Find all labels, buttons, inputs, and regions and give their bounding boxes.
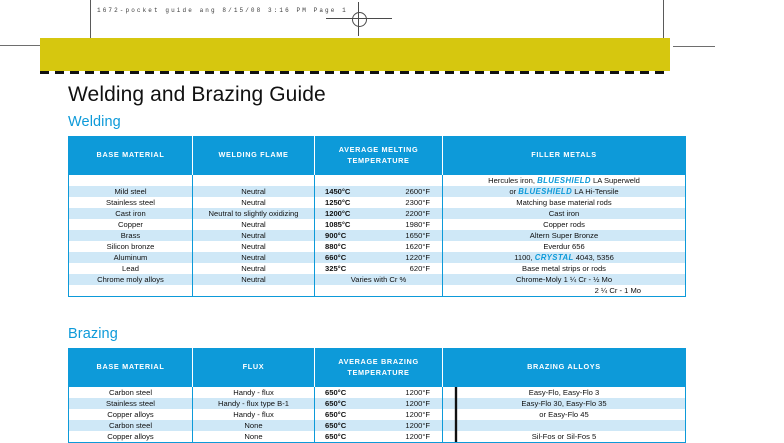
registration-target-icon bbox=[348, 8, 370, 30]
welding-base-material-cell: Brass bbox=[69, 230, 193, 241]
temperature-celsius: 650°C bbox=[325, 409, 346, 420]
temperature-celsius: 660°C bbox=[325, 252, 346, 263]
temperature-cell: Varies with Cr % bbox=[315, 274, 443, 285]
welding-table-row: BrassNeutral900°C1650°FAltern Super Bron… bbox=[69, 230, 686, 241]
welding-filler-metals-cell: Copper rods bbox=[443, 219, 686, 230]
welding-flame-cell: Neutral bbox=[193, 230, 315, 241]
welding-base-material-cell: Chrome moly alloys bbox=[69, 274, 193, 285]
welding-flame-cell: Neutral bbox=[193, 252, 315, 263]
welding-filler-metals-cell: Base metal strips or rods bbox=[443, 263, 686, 274]
brazing-table-row: Carbon steelNone650°C1200°F⎧ bbox=[69, 420, 686, 431]
welding-heading: Welding bbox=[68, 114, 685, 130]
welding-base-material-cell bbox=[69, 285, 193, 297]
brazing-table-body: Carbon steelHandy - flux650°C1200°F⎧Easy… bbox=[69, 387, 686, 443]
welding-col-welding-flame: WELDING FLAME bbox=[193, 137, 315, 176]
temperature-span-note: Varies with Cr % bbox=[315, 274, 442, 285]
welding-flame-cell: Neutral bbox=[193, 241, 315, 252]
temperature-cell: 650°C1200°F bbox=[315, 387, 443, 398]
brazing-alloys-cell: ⎩or Easy-Flo 45 bbox=[443, 409, 686, 420]
welding-base-material-cell bbox=[69, 175, 193, 186]
brazing-temp-header-line2: TEMPERATURE bbox=[347, 368, 409, 377]
grouping-brace-icon: ⎩ bbox=[449, 409, 463, 420]
temperature-celsius: 650°C bbox=[325, 420, 346, 431]
brazing-col-brazing-alloys: BRAZING ALLOYS bbox=[443, 349, 686, 388]
welding-base-material-cell: Aluminum bbox=[69, 252, 193, 263]
temperature-fahrenheit: 1650°F bbox=[405, 230, 430, 241]
brazing-flux-cell: Handy - flux bbox=[193, 409, 315, 420]
welding-table-header-row: BASE MATERIAL WELDING FLAME AVERAGE MELT… bbox=[69, 137, 686, 176]
temperature-fahrenheit: 1200°F bbox=[405, 420, 430, 431]
welding-temp-header-line2: TEMPERATURE bbox=[347, 156, 409, 165]
welding-base-material-cell: Stainless steel bbox=[69, 197, 193, 208]
filler-text-prefix: or bbox=[509, 187, 518, 196]
temperature-fahrenheit: 1200°F bbox=[405, 409, 430, 420]
filler-text-suffix: LA Hi-Tensile bbox=[572, 187, 618, 196]
crop-mark-right-horizontal bbox=[673, 46, 715, 47]
brazing-table-row: Copper alloysHandy - flux650°C1200°F⎩or … bbox=[69, 409, 686, 420]
welding-flame-cell: Neutral bbox=[193, 197, 315, 208]
temperature-fahrenheit: 2600°F bbox=[405, 186, 430, 197]
welding-filler-metals-cell: Matching base material rods bbox=[443, 197, 686, 208]
brazing-table-row: Carbon steelHandy - flux650°C1200°F⎧Easy… bbox=[69, 387, 686, 398]
welding-base-material-cell: Silicon bronze bbox=[69, 241, 193, 252]
temperature-fahrenheit: 1200°F bbox=[405, 387, 430, 398]
temperature-celsius: 650°C bbox=[325, 387, 346, 398]
welding-table-body: Hercules iron, BLUESHIELD LA SuperweldMi… bbox=[69, 175, 686, 297]
welding-filler-metals-cell: 2 ¼ Cr - 1 Mo bbox=[443, 285, 686, 297]
temperature-celsius: 1250°C bbox=[325, 197, 350, 208]
temperature-cell: 1200°C2200°F bbox=[315, 208, 443, 219]
welding-base-material-cell: Lead bbox=[69, 263, 193, 274]
brazing-alloy-label: Easy-Flo, Easy-Flo 3 bbox=[443, 387, 685, 398]
temperature-cell bbox=[315, 175, 443, 186]
dashed-cut-rule bbox=[40, 71, 670, 74]
temperature-cell: 325°C620°F bbox=[315, 263, 443, 274]
brazing-col-flux: FLUX bbox=[193, 349, 315, 388]
brazing-table-row: Stainless steelHandy - flux type B-1650°… bbox=[69, 398, 686, 409]
filler-text-suffix: 4043, 5356 bbox=[574, 253, 614, 262]
temperature-celsius: 1200°C bbox=[325, 208, 350, 219]
brazing-alloy-label: or Easy-Flo 45 bbox=[443, 409, 685, 420]
temperature-cell: 650°C1200°F bbox=[315, 398, 443, 409]
welding-table-row: Hercules iron, BLUESHIELD LA Superweld bbox=[69, 175, 686, 186]
temperature-cell: 1085°C1980°F bbox=[315, 219, 443, 230]
temperature-cell: 880°C1620°F bbox=[315, 241, 443, 252]
welding-section: Welding BASE MATERIAL WELDING FLAME AVER… bbox=[68, 114, 685, 297]
yellow-header-banner bbox=[40, 38, 670, 71]
welding-table-row: AluminumNeutral660°C1220°F1100, CRYSTAL … bbox=[69, 252, 686, 263]
brazing-flux-cell: Handy - flux bbox=[193, 387, 315, 398]
welding-base-material-cell: Mild steel bbox=[69, 186, 193, 197]
grouping-brace-icon: ⎧ bbox=[449, 387, 463, 398]
brazing-table-header-row: BASE MATERIAL FLUX AVERAGE BRAZING TEMPE… bbox=[69, 349, 686, 388]
brazing-alloys-cell: ⎫Easy-Flo 30, Easy-Flo 35 bbox=[443, 398, 686, 409]
brazing-alloys-cell: ⎧Easy-Flo, Easy-Flo 3 bbox=[443, 387, 686, 398]
welding-flame-cell bbox=[193, 175, 315, 186]
brazing-base-material-cell: Carbon steel bbox=[69, 387, 193, 398]
welding-table-row: Cast ironNeutral to slightly oxidizing12… bbox=[69, 208, 686, 219]
brazing-flux-cell: Handy - flux type B-1 bbox=[193, 398, 315, 409]
temperature-cell: 900°C1650°F bbox=[315, 230, 443, 241]
temperature-fahrenheit: 1220°F bbox=[405, 252, 430, 263]
temperature-celsius: 1085°C bbox=[325, 219, 350, 230]
welding-filler-metals-cell: Chrome-Moly 1 ¼ Cr - ½ Mo bbox=[443, 274, 686, 285]
welding-table: BASE MATERIAL WELDING FLAME AVERAGE MELT… bbox=[68, 136, 686, 297]
brazing-base-material-cell: Copper alloys bbox=[69, 409, 193, 420]
welding-flame-cell bbox=[193, 285, 315, 297]
welding-table-row: Chrome moly alloysNeutralVaries with Cr … bbox=[69, 274, 686, 285]
grouping-brace-icon: ⎫ bbox=[449, 398, 463, 409]
welding-temp-header-line1: AVERAGE MELTING bbox=[339, 145, 419, 154]
temperature-cell: 650°C1200°F bbox=[315, 420, 443, 431]
welding-flame-cell: Neutral bbox=[193, 274, 315, 285]
temperature-celsius: 650°C bbox=[325, 398, 346, 409]
welding-table-row: 2 ¼ Cr - 1 Mo bbox=[69, 285, 686, 297]
welding-flame-cell: Neutral to slightly oxidizing bbox=[193, 208, 315, 219]
brazing-alloys-cell: ⎧ bbox=[443, 420, 686, 431]
temperature-fahrenheit: 1620°F bbox=[405, 241, 430, 252]
temperature-fahrenheit: 1980°F bbox=[405, 219, 430, 230]
page-title: Welding and Brazing Guide bbox=[68, 83, 326, 107]
brazing-section: Brazing BASE MATERIAL FLUX AVERAGE BRAZI… bbox=[68, 326, 685, 443]
welding-filler-metals-cell: Everdur 656 bbox=[443, 241, 686, 252]
temperature-cell: 650°C1200°F bbox=[315, 409, 443, 420]
brand-wordmark: BLUESHIELD bbox=[537, 176, 591, 185]
temperature-cell: 1450°C2600°F bbox=[315, 186, 443, 197]
prepress-slug-line: 1672-pocket guide ang 8/15/08 3:16 PM Pa… bbox=[97, 7, 348, 14]
brazing-temp-header-line1: AVERAGE BRAZING bbox=[338, 357, 419, 366]
welding-table-row: Silicon bronzeNeutral880°C1620°FEverdur … bbox=[69, 241, 686, 252]
crop-mark-top-right-vertical bbox=[663, 0, 664, 40]
welding-base-material-cell: Cast iron bbox=[69, 208, 193, 219]
welding-flame-cell: Neutral bbox=[193, 219, 315, 230]
welding-table-row: Mild steelNeutral1450°C2600°For BLUESHIE… bbox=[69, 186, 686, 197]
brazing-base-material-cell: Carbon steel bbox=[69, 420, 193, 431]
temperature-celsius: 880°C bbox=[325, 241, 346, 252]
welding-col-average-melting-temperature: AVERAGE MELTING TEMPERATURE bbox=[315, 137, 443, 176]
registration-circle bbox=[352, 12, 367, 27]
temperature-fahrenheit: 1200°F bbox=[405, 398, 430, 409]
filler-text-prefix: 1100, bbox=[514, 253, 535, 262]
brazing-base-material-cell: Stainless steel bbox=[69, 398, 193, 409]
temperature-cell: 660°C1220°F bbox=[315, 252, 443, 263]
brazing-heading: Brazing bbox=[68, 326, 685, 342]
welding-filler-metals-cell: or BLUESHIELD LA Hi-Tensile bbox=[443, 186, 686, 197]
temperature-fahrenheit: 2200°F bbox=[405, 208, 430, 219]
welding-filler-metals-cell: Altern Super Bronze bbox=[443, 230, 686, 241]
welding-col-base-material: BASE MATERIAL bbox=[69, 137, 193, 176]
temperature-cell bbox=[315, 285, 443, 297]
grouping-brace-icon: ⎧ bbox=[449, 420, 463, 431]
brazing-flux-cell: None bbox=[193, 420, 315, 431]
welding-flame-cell: Neutral bbox=[193, 263, 315, 274]
brazing-col-average-brazing-temperature: AVERAGE BRAZING TEMPERATURE bbox=[315, 349, 443, 388]
temperature-celsius: 900°C bbox=[325, 230, 346, 241]
temperature-fahrenheit: 620°F bbox=[410, 263, 430, 274]
filler-text-prefix: Hercules iron, bbox=[488, 176, 537, 185]
temperature-fahrenheit: 2300°F bbox=[405, 197, 430, 208]
welding-table-row: Stainless steelNeutral1250°C2300°FMatchi… bbox=[69, 197, 686, 208]
welding-table-row: LeadNeutral325°C620°FBase metal strips o… bbox=[69, 263, 686, 274]
welding-filler-metals-cell: 1100, CRYSTAL 4043, 5356 bbox=[443, 252, 686, 263]
brazing-col-base-material: BASE MATERIAL bbox=[69, 349, 193, 388]
brazing-table: BASE MATERIAL FLUX AVERAGE BRAZING TEMPE… bbox=[68, 348, 686, 443]
temperature-celsius: 1450°C bbox=[325, 186, 350, 197]
welding-col-filler-metals: FILLER METALS bbox=[443, 137, 686, 176]
welding-flame-cell: Neutral bbox=[193, 186, 315, 197]
brazing-alloy-label: Easy-Flo 30, Easy-Flo 35 bbox=[443, 398, 685, 409]
filler-text-suffix: LA Superweld bbox=[591, 176, 640, 185]
temperature-cell: 1250°C2300°F bbox=[315, 197, 443, 208]
welding-table-row: CopperNeutral1085°C1980°FCopper rods bbox=[69, 219, 686, 230]
temperature-celsius: 325°C bbox=[325, 263, 346, 274]
brand-wordmark: BLUESHIELD bbox=[518, 187, 572, 196]
welding-filler-metals-cell: Hercules iron, BLUESHIELD LA Superweld bbox=[443, 175, 686, 186]
brand-wordmark: CRYSTAL bbox=[535, 253, 574, 262]
welding-filler-metals-cell: Cast iron bbox=[443, 208, 686, 219]
welding-base-material-cell: Copper bbox=[69, 219, 193, 230]
